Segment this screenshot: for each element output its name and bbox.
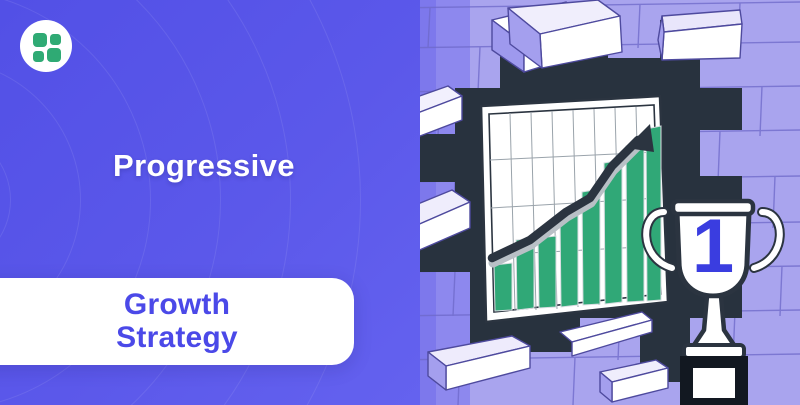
chart-bar-1 [494, 263, 512, 311]
title-line-2: Strategy [116, 322, 238, 354]
logo-tile-top-left [33, 33, 47, 47]
title-line-1: Growth [124, 289, 230, 321]
logo-tile-bottom-right [47, 48, 61, 62]
brick-3 [658, 10, 742, 60]
decor-ring-1 [0, 129, 11, 271]
promo-banner: 1 Progressive Growth Strategy [0, 0, 800, 405]
bar-chart [481, 96, 668, 322]
trophy-plaque [693, 368, 735, 398]
chart-bar-3 [538, 236, 556, 308]
logo-tile-bottom-left [33, 51, 44, 62]
logo-circle [20, 20, 72, 72]
logo-tile-top-right [50, 34, 61, 45]
app-logo[interactable] [20, 20, 72, 72]
chart-bar-4 [560, 213, 578, 307]
headline-text: Progressive [113, 150, 295, 181]
trophy-rank-number: 1 [692, 204, 734, 289]
title-card: Growth Strategy [0, 278, 354, 365]
chart-bar-7 [626, 143, 644, 302]
